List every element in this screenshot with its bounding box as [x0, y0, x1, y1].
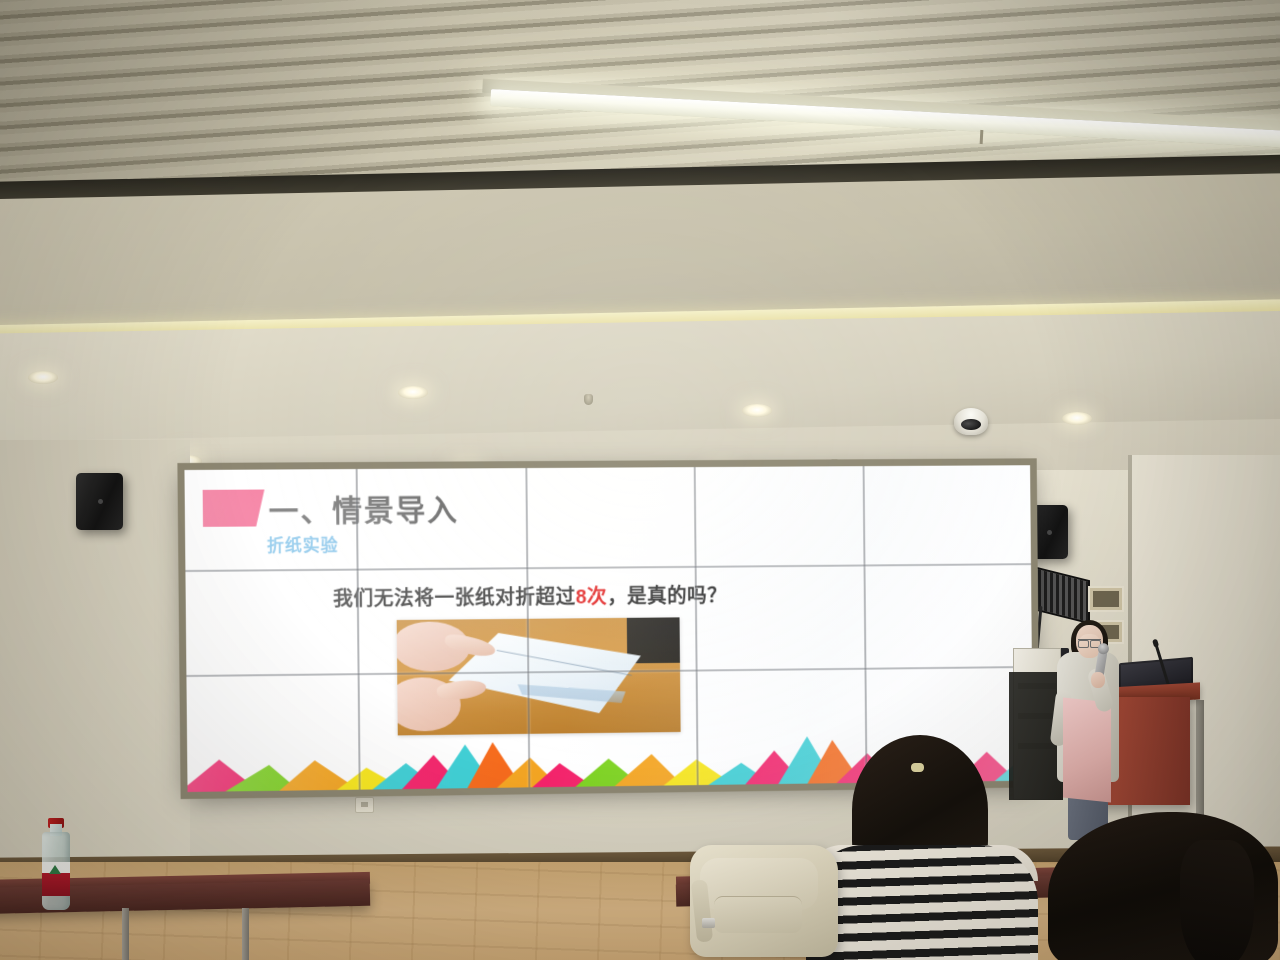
student-striped-sweater	[806, 845, 1038, 960]
slide-title: 一、情景导入	[268, 485, 459, 530]
bottle-label	[42, 862, 70, 896]
question-suffix: ，是真的吗？	[607, 585, 727, 608]
paper-folding-photo	[397, 617, 681, 735]
water-bottle	[42, 818, 70, 910]
panel-seam-horizontal	[185, 563, 1031, 572]
presenter-hand	[1091, 672, 1105, 688]
question-highlight: 8次	[576, 586, 608, 608]
speaker-right-icon	[1030, 505, 1068, 559]
speaker-left-icon	[76, 473, 123, 530]
backpack-buckle	[702, 918, 715, 928]
downlight-icon	[1062, 412, 1092, 425]
downlight-icon	[398, 386, 428, 399]
desk-leg	[242, 908, 249, 960]
dome-camera-icon	[954, 408, 988, 435]
desk-leg	[122, 908, 129, 960]
downlight-icon	[28, 371, 58, 384]
lecture-hall-photo: 一、情景导入 折纸实验 我们无法将一张纸对折超过8次，是真的吗？	[0, 0, 1280, 960]
sprinkler-head-icon	[584, 394, 593, 405]
slide-subtitle: 折纸实验	[267, 531, 339, 556]
glasses-icon	[1078, 639, 1101, 646]
student-right-hair-strand	[1180, 840, 1254, 960]
downlight-icon	[742, 404, 772, 417]
power-outlet-icon	[355, 797, 374, 813]
wall-panel-upper	[1088, 586, 1124, 612]
hair-tie-icon	[911, 763, 924, 772]
slide-question: 我们无法将一张纸对折超过8次，是真的吗？	[333, 579, 727, 611]
backpack-pocket	[714, 896, 802, 933]
title-accent-shape	[203, 490, 265, 527]
question-prefix: 我们无法将一张纸对折超过	[333, 587, 576, 611]
equipment-stand-pole	[1196, 700, 1204, 820]
podium-front-panel	[1063, 697, 1111, 802]
